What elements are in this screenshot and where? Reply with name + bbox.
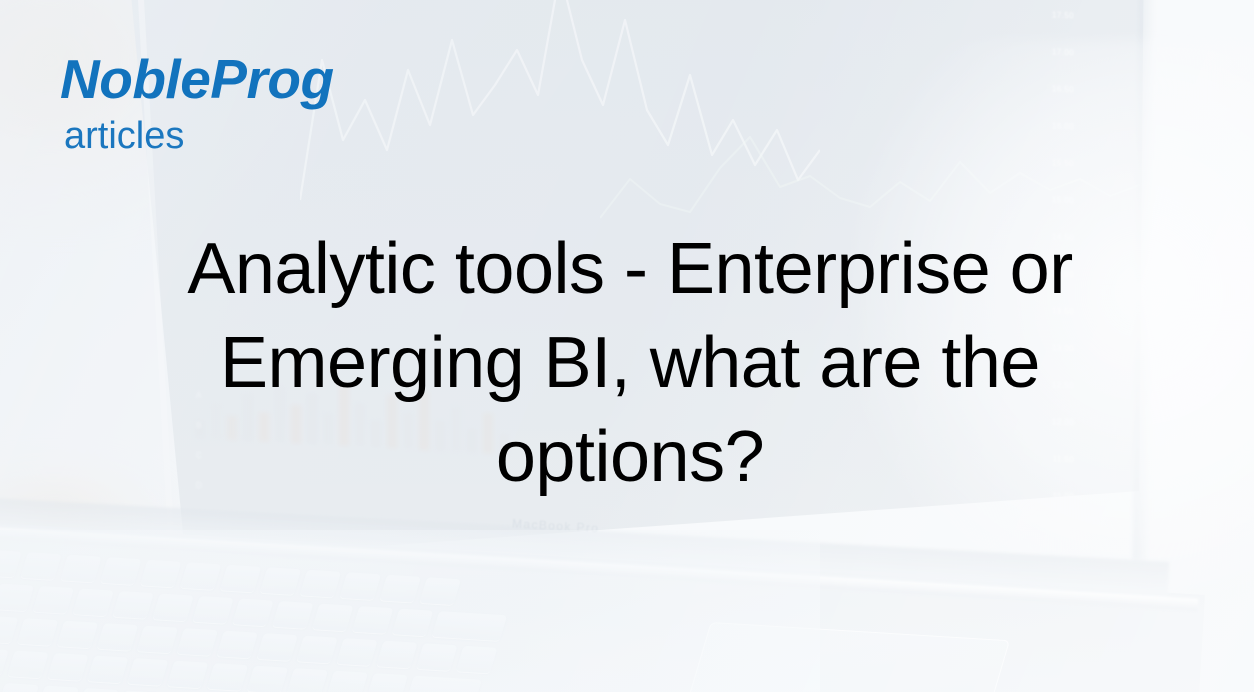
banner-content: NobleProg articles Analytic tools - Ente…	[0, 0, 1254, 692]
headline-line-1: Analytic tools - Enterprise or	[130, 222, 1130, 316]
nobleprog-logo[interactable]: NobleProg articles	[60, 52, 334, 155]
article-headline: Analytic tools - Enterprise or Emerging …	[130, 222, 1130, 504]
logo-section-label: articles	[64, 117, 334, 155]
article-banner: 18.00 17.50 17.00 16.50 16.00 15.50 15.0…	[0, 0, 1254, 692]
headline-line-3: options?	[130, 410, 1130, 504]
headline-line-2: Emerging BI, what are the	[130, 316, 1130, 410]
logo-brand-name: NobleProg	[60, 52, 334, 107]
